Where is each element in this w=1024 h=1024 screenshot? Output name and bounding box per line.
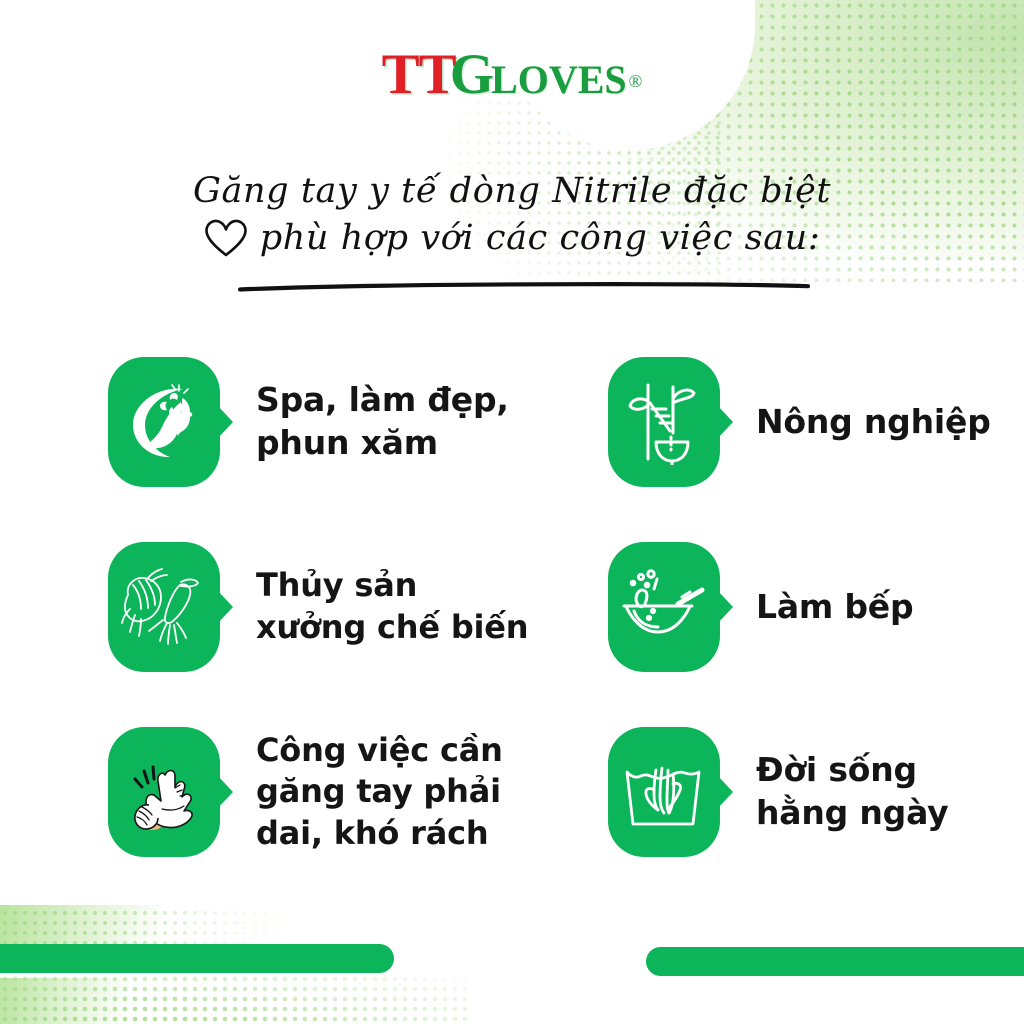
bottom-bar-right (646, 947, 1024, 976)
brand-logo: TTGLOVES® (0, 46, 1024, 103)
logo-loves-text: LOVES (491, 57, 627, 102)
headline-line-2-wrap: phù hợp với các công việc sau: (204, 215, 820, 262)
headline-line-2: phù hợp với các công việc sau: (260, 215, 820, 262)
badge-daily-life (608, 727, 720, 857)
grid-item-label: Thủy sản xưởng chế biến (256, 565, 528, 648)
grid-item-agriculture[interactable]: Nông nghiệp (608, 357, 991, 487)
badge-seafood (108, 542, 220, 672)
grid-item-label: Đời sống hằng ngày (756, 749, 948, 835)
headline-block: Găng tay y tế dòng Nitrile đặc biệt phù … (0, 168, 1024, 263)
grid-item-kitchen[interactable]: Làm bếp (608, 542, 913, 672)
logo-g-text: G (450, 43, 494, 106)
grid-item-spa[interactable]: Spa, làm đẹp, phun xăm (108, 357, 509, 487)
grid-item-daily-life[interactable]: Đời sống hằng ngày (608, 727, 948, 857)
grid-item-label: Nông nghiệp (756, 401, 991, 444)
grid-item-seafood[interactable]: Thủy sản xưởng chế biến (108, 542, 528, 672)
badge-durable-glove (108, 727, 220, 857)
badge-spa (108, 357, 220, 487)
headline-line-1: Găng tay y tế dòng Nitrile đặc biệt (0, 168, 1024, 215)
registered-trademark-icon: ® (629, 71, 643, 91)
bottom-left-halftone-dots-bottom (0, 974, 470, 1024)
grid-item-durable-glove[interactable]: Công việc cần găng tay phải dai, khó rác… (108, 727, 503, 857)
grid-item-label: Spa, làm đẹp, phun xăm (256, 379, 509, 465)
badge-kitchen (608, 542, 720, 672)
headline-underline (238, 280, 810, 294)
heart-icon (204, 218, 248, 258)
spa-face-flower-icon (123, 380, 205, 464)
grid-item-label: Công việc cần găng tay phải dai, khó rác… (256, 730, 503, 855)
bottom-bar-left (0, 944, 394, 973)
handwash-basin-icon (621, 754, 707, 830)
bottom-left-halftone-dots-top (0, 908, 300, 948)
poster-canvas: TTGLOVES® Găng tay y tế dòng Nitrile đặc… (0, 0, 1024, 1024)
benefit-grid: Spa, làm đẹp, phun xăm (0, 352, 1024, 877)
badge-agriculture (608, 357, 720, 487)
shrimp-squid-icon (118, 565, 210, 649)
glove-hand-icon (118, 749, 210, 835)
grid-item-label: Làm bếp (756, 586, 913, 629)
wok-pan-icon (620, 566, 708, 648)
plant-shovel-icon (626, 379, 702, 465)
logo-tt-text: TT (382, 43, 456, 106)
